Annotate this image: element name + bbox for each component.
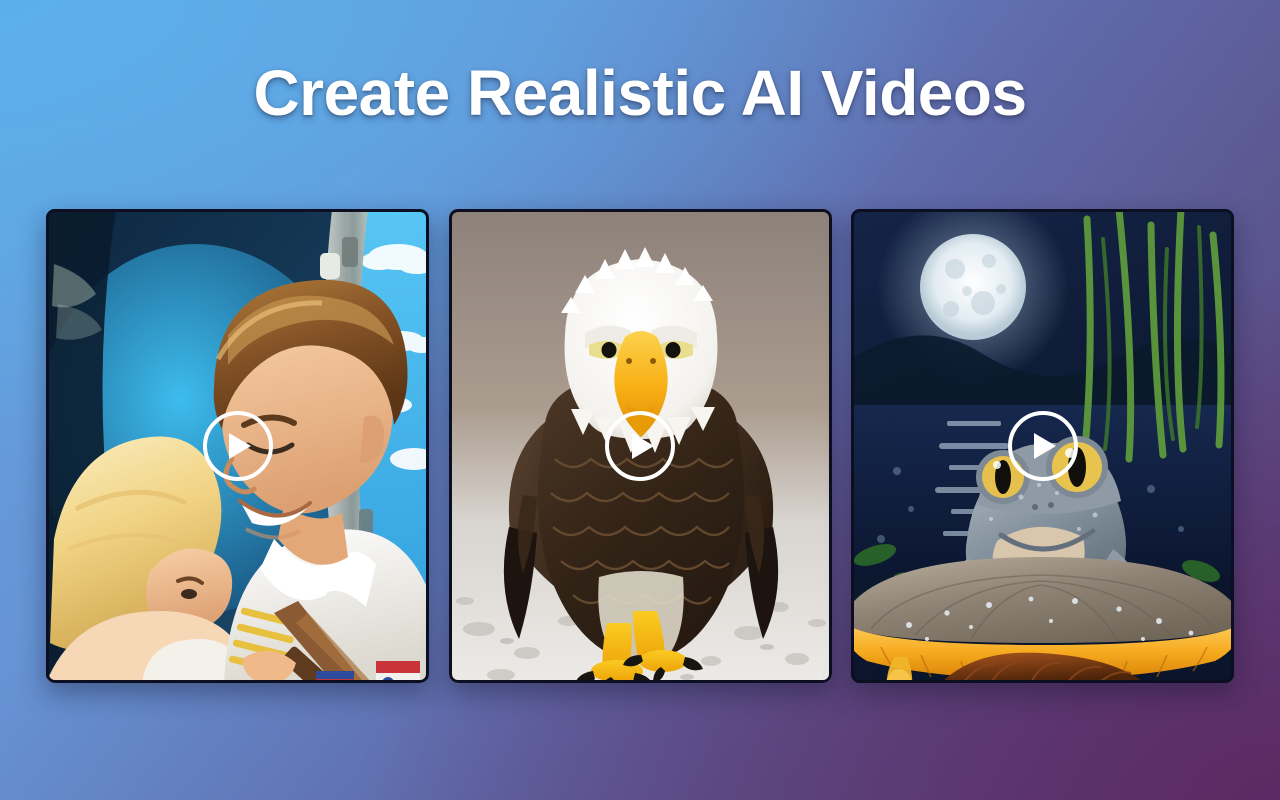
- play-button[interactable]: [605, 411, 675, 481]
- video-card-frog-mushroom[interactable]: [851, 209, 1234, 683]
- video-card-bald-eagle[interactable]: [449, 209, 832, 683]
- video-card-cockpit-couple[interactable]: [46, 209, 429, 683]
- play-icon: [632, 433, 654, 459]
- play-button[interactable]: [203, 411, 273, 481]
- video-card-row: [46, 209, 1234, 683]
- play-icon: [229, 433, 251, 459]
- play-button[interactable]: [1008, 411, 1078, 481]
- page-title-wrapper: Create Realistic AI Videos: [0, 60, 1280, 127]
- page-title: Create Realistic AI Videos: [253, 60, 1026, 127]
- play-icon: [1034, 433, 1056, 459]
- page-root: Create Realistic AI Videos: [0, 0, 1280, 800]
